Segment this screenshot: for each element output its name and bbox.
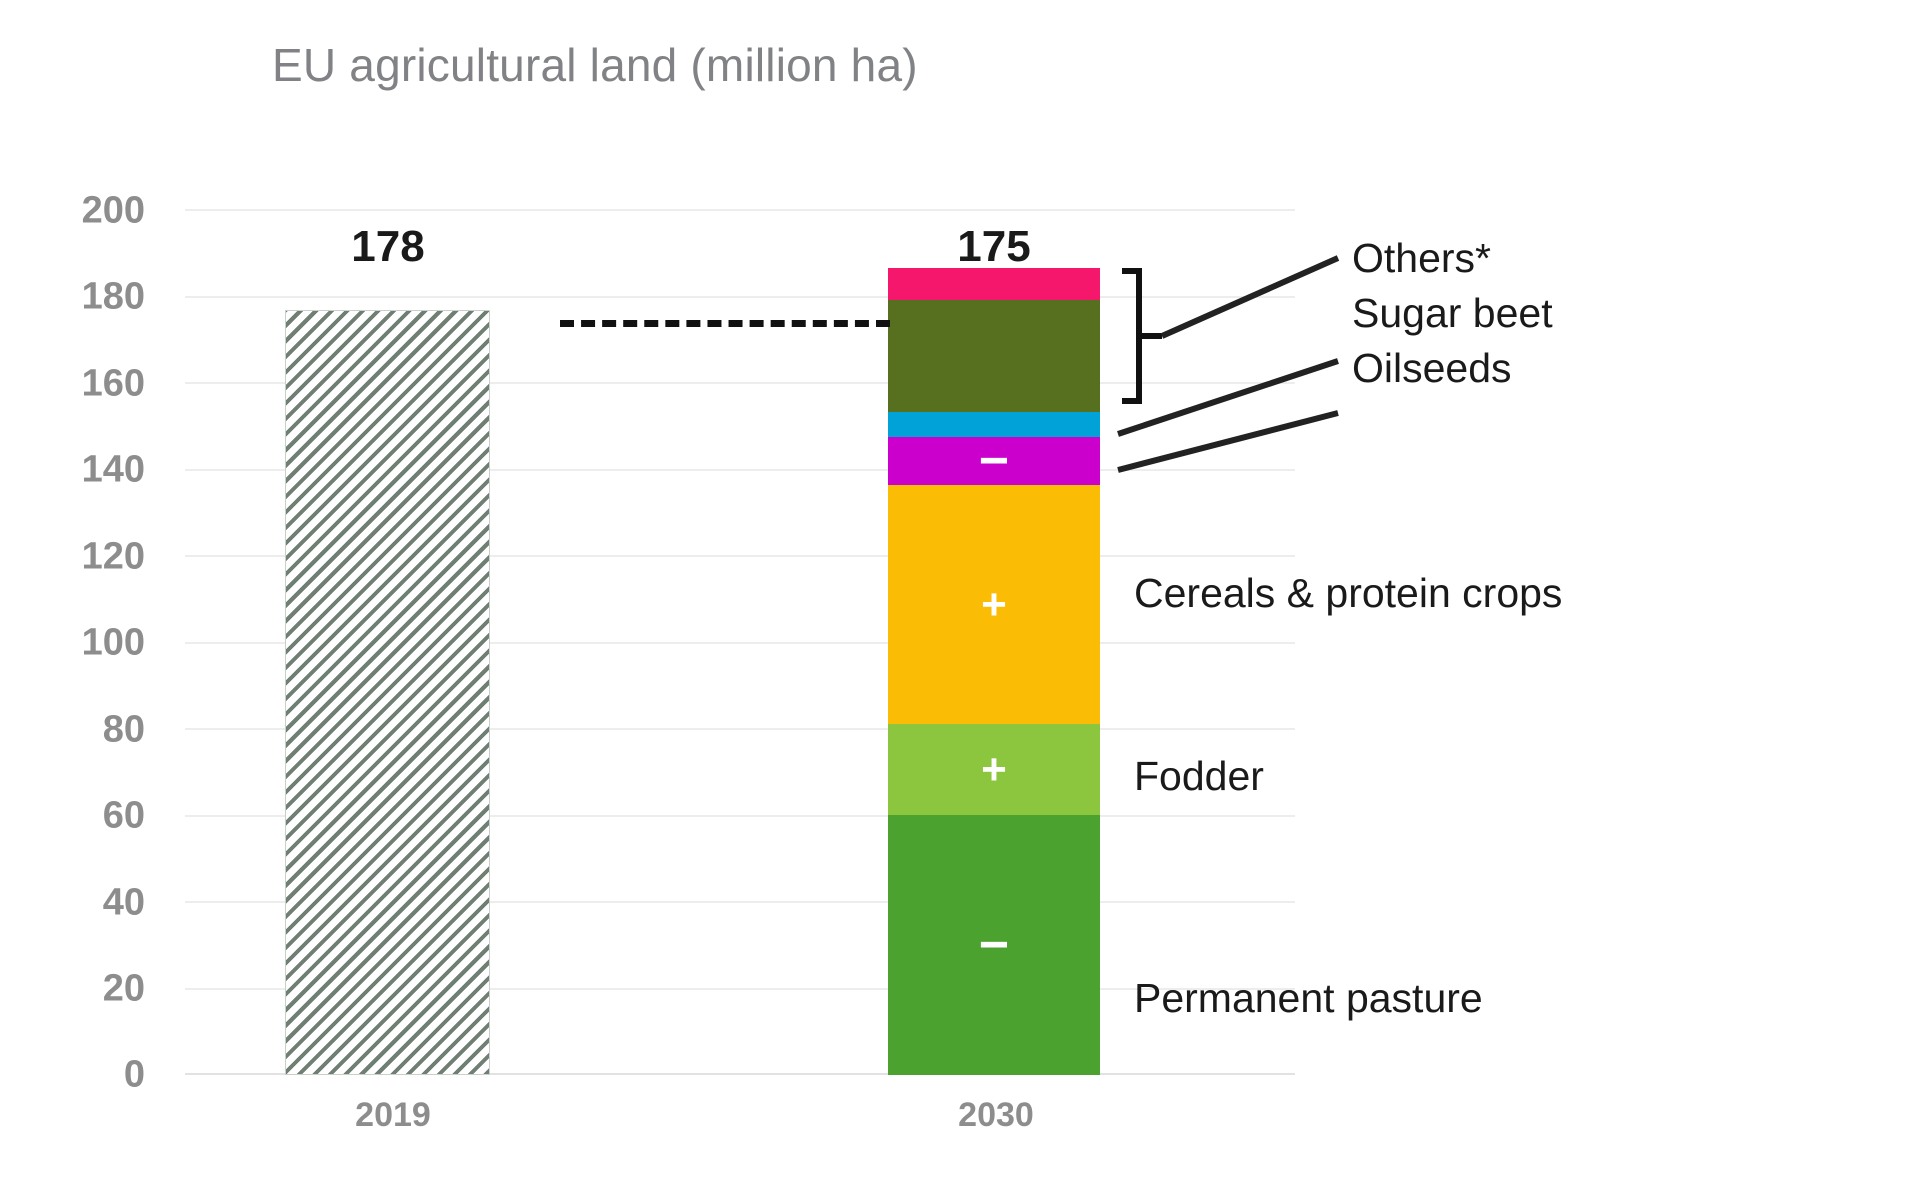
bar-2030-stack[interactable]: − + + −: [888, 268, 1100, 1075]
segment-cereals[interactable]: +: [888, 485, 1100, 724]
segment-others[interactable]: [888, 300, 1100, 412]
y-tick-60: 60: [0, 795, 145, 838]
callout-sugar-beet: Sugar beet: [1352, 290, 1553, 337]
pasture-sign: −: [979, 919, 1009, 971]
gridline-180: [185, 296, 1295, 298]
segment-others-top[interactable]: [888, 268, 1100, 300]
segment-oilseeds[interactable]: −: [888, 437, 1100, 485]
segment-permanent-pasture[interactable]: −: [888, 815, 1100, 1075]
label-fodder: Fodder: [1134, 753, 1264, 800]
label-cereals: Cereals & protein crops: [1134, 570, 1562, 617]
y-tick-40: 40: [0, 882, 145, 925]
callout-oilseeds: Oilseeds: [1352, 345, 1512, 392]
x-tick-2030: 2030: [958, 1096, 1034, 1135]
y-tick-0: 0: [0, 1054, 145, 1097]
callout-others: Others*: [1352, 235, 1491, 282]
segment-fodder[interactable]: +: [888, 724, 1100, 815]
y-tick-180: 180: [0, 276, 145, 319]
bar-2019-total[interactable]: [285, 310, 490, 1075]
bar-2019-value-label: 178: [351, 222, 424, 272]
chart-title: EU agricultural land (million ha): [272, 38, 918, 92]
y-tick-80: 80: [0, 709, 145, 752]
y-tick-200: 200: [0, 190, 145, 233]
y-tick-20: 20: [0, 968, 145, 1011]
fodder-sign: +: [981, 748, 1007, 792]
y-tick-120: 120: [0, 536, 145, 579]
label-pasture: Permanent pasture: [1134, 975, 1483, 1022]
comparison-dashed-line: [560, 320, 890, 327]
y-tick-140: 140: [0, 449, 145, 492]
oilseeds-sign: −: [979, 435, 1009, 487]
chart-root: EU agricultural land (million ha) 200 18…: [0, 0, 1920, 1183]
cereals-sign: +: [981, 583, 1007, 627]
y-tick-100: 100: [0, 622, 145, 665]
y-tick-160: 160: [0, 363, 145, 406]
plot-area: − + + −: [185, 209, 1295, 1075]
y-axis-labels: 200 180 160 140 120 100 80 60 40 20 0: [0, 0, 170, 1183]
bar-2030-value-label: 175: [957, 222, 1030, 272]
gridline-200: [185, 209, 1295, 211]
x-tick-2019: 2019: [355, 1096, 431, 1135]
